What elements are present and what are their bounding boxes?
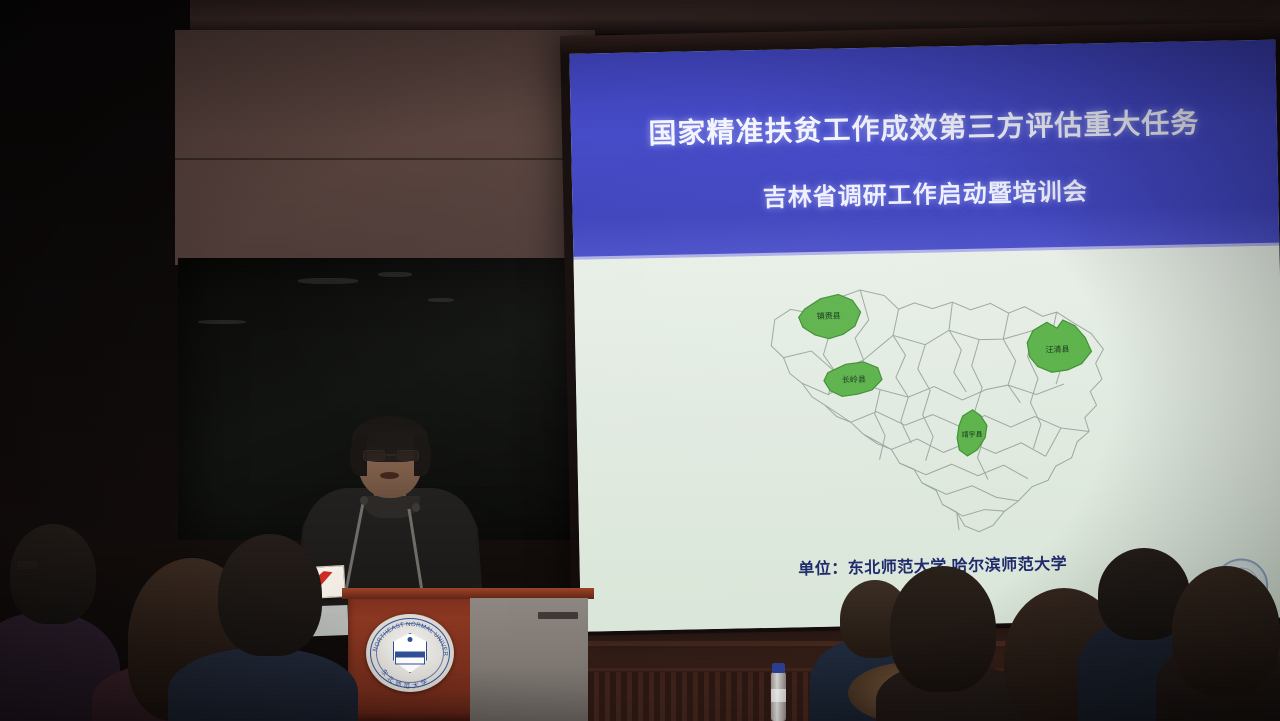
highlighted-county-northwest: 镇赉县 <box>798 294 861 339</box>
highlighted-county-east: 汪清县 <box>1027 319 1092 372</box>
conference-photo-scene: 国家精准扶贫工作成效第三方评估重大任务 吉林省调研工作启动暨培训会 <box>0 0 1280 721</box>
bottle-label <box>771 689 786 702</box>
audience-member-head <box>218 534 322 656</box>
presentation-slide: 国家精准扶贫工作成效第三方评估重大任务 吉林省调研工作启动暨培训会 <box>569 40 1280 632</box>
speaker-mouth <box>380 472 399 479</box>
svg-text:靖宇县: 靖宇县 <box>961 430 982 439</box>
svg-text:汪清县: 汪清县 <box>1045 344 1069 354</box>
podium: NORTHEAST NORMAL UNIVERSITY 东北师范大学 <box>348 596 588 721</box>
glasses-icon <box>362 450 420 461</box>
audience-member-glasses-icon <box>16 560 38 570</box>
upper-wall <box>175 30 595 265</box>
left-dark-wall <box>0 0 190 560</box>
audience-member-head <box>10 524 96 624</box>
svg-text:NORTHEAST NORMAL UNIVERSITY: NORTHEAST NORMAL UNIVERSITY <box>366 614 449 657</box>
podium-side-panel <box>470 598 588 721</box>
slide-header-band: 国家精准扶贫工作成效第三方评估重大任务 吉林省调研工作启动暨培训会 <box>569 40 1279 260</box>
svg-text:镇赉县: 镇赉县 <box>817 310 841 320</box>
microphone-head <box>360 496 368 505</box>
audience-member-torso <box>168 648 358 721</box>
bottle-cap <box>772 663 785 673</box>
jilin-province-map: 镇赉县 长岭县 汪清县 靖宇县 <box>756 271 1121 546</box>
projection-screen: 国家精准扶贫工作成效第三方评估重大任务 吉林省调研工作启动暨培训会 <box>560 22 1280 636</box>
microphone-head <box>412 503 420 512</box>
audience-member-head <box>890 566 996 692</box>
svg-text:长岭县: 长岭县 <box>842 374 866 384</box>
slide-subtitle: 吉林省调研工作启动暨培训会 <box>572 168 1279 217</box>
audience-member-head <box>1172 566 1280 696</box>
podium-control-plate <box>538 612 578 619</box>
slide-title: 国家精准扶贫工作成效第三方评估重大任务 <box>571 100 1278 154</box>
water-bottle <box>771 672 786 721</box>
university-emblem: NORTHEAST NORMAL UNIVERSITY 东北师范大学 <box>366 614 454 692</box>
svg-text:东北师范大学: 东北师范大学 <box>379 667 431 690</box>
